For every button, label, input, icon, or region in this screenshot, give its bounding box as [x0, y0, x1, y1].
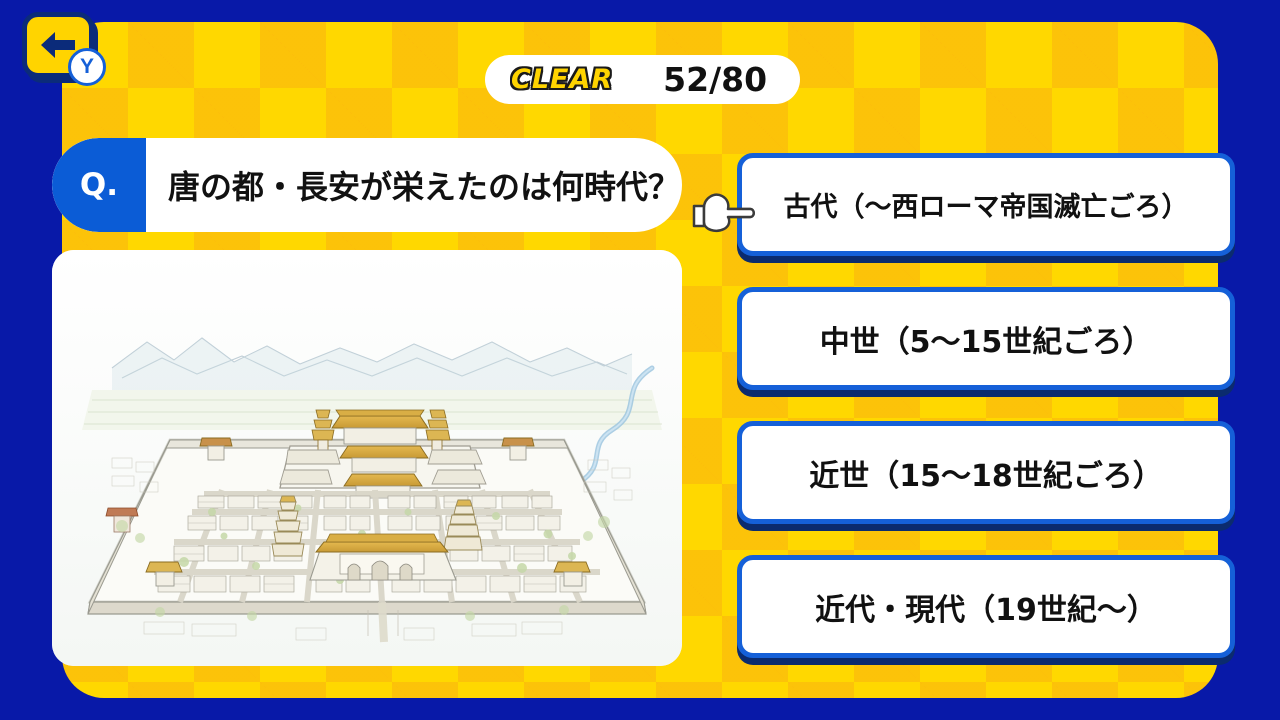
answer-option-3[interactable]: 近世（15〜18世紀ごろ）	[737, 421, 1235, 524]
answer-option-2-label: 中世（5〜15世紀ごろ）	[820, 317, 1153, 361]
question-text: 唐の都・長安が栄えたのは何時代？	[146, 162, 682, 208]
answer-list: 古代（〜西ローマ帝国滅亡ごろ） 中世（5〜15世紀ごろ） 近世（15〜18世紀ご…	[737, 153, 1237, 689]
answer-option-3-label: 近世（15〜18世紀ごろ）	[809, 451, 1163, 495]
clear-count: 52/80	[663, 60, 767, 99]
answer-option-4-label: 近代・現代（19世紀〜）	[815, 585, 1157, 629]
button-hint-y[interactable]: Y	[68, 48, 106, 86]
question-badge: Q.	[52, 138, 146, 232]
illustration-panel	[52, 250, 682, 666]
clear-label: CLEAR	[511, 64, 613, 95]
answer-option-4[interactable]: 近代・現代（19世紀〜）	[737, 555, 1235, 658]
question-bar: Q. 唐の都・長安が栄えたのは何時代？	[52, 138, 682, 232]
answer-option-2[interactable]: 中世（5〜15世紀ごろ）	[737, 287, 1235, 390]
status-badge: CLEAR 52/80	[485, 55, 800, 104]
game-screen: Y CLEAR 52/80 Q. 唐の都・長安が栄えたのは何時代？	[0, 0, 1280, 720]
changan-city-illustration	[52, 250, 682, 666]
answer-option-1[interactable]: 古代（〜西ローマ帝国滅亡ごろ）	[737, 153, 1235, 256]
button-hint-label: Y	[80, 55, 94, 79]
answer-option-1-label: 古代（〜西ローマ帝国滅亡ごろ）	[784, 185, 1189, 224]
